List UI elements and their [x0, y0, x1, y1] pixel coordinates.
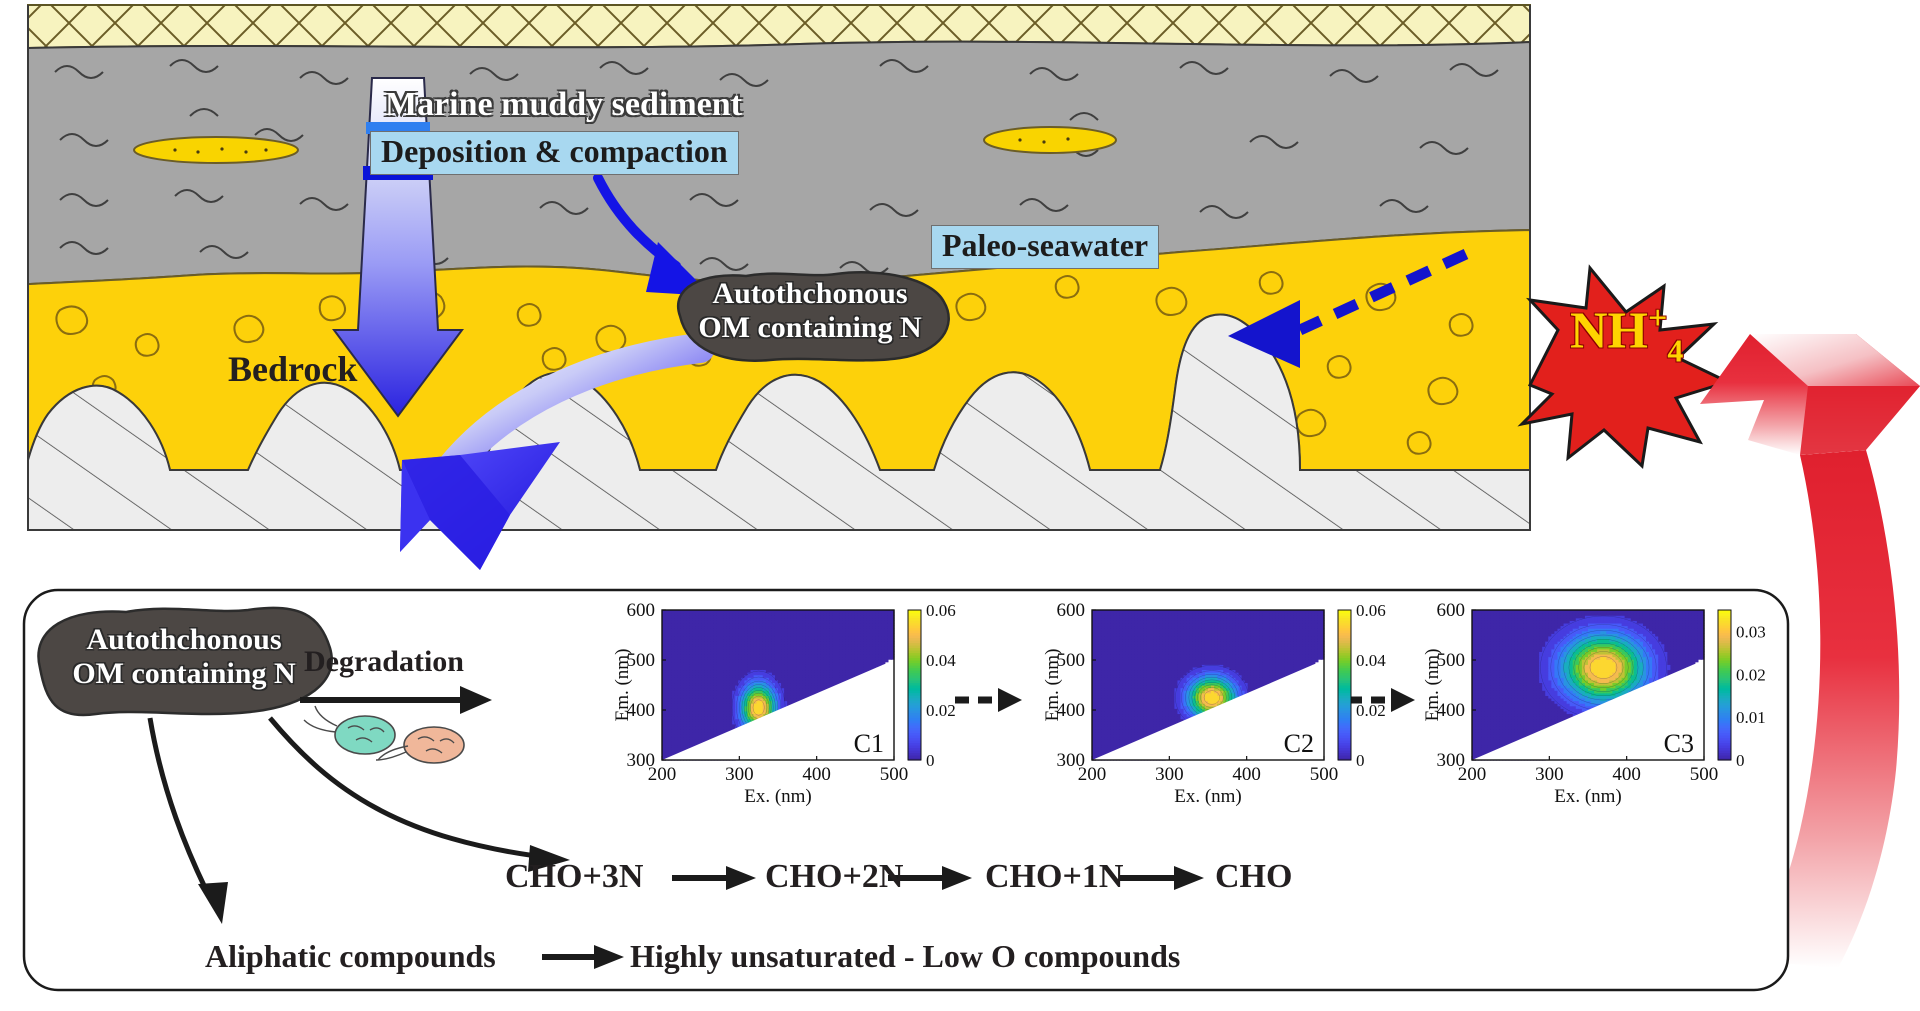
colorbar-tick-label: 0.02 [1356, 701, 1386, 720]
y-tick-label: 600 [1437, 600, 1466, 621]
reaction-step-1: CHO+3N [505, 858, 643, 896]
om-blob-lower-line2: OM containing N [30, 657, 338, 691]
eem-contour-plot-c3: 200300400500300400500600Ex. (nm)Em. (nm)… [1410, 598, 1770, 838]
x-tick-label: 500 [880, 764, 909, 785]
y-tick-label: 600 [627, 600, 656, 621]
x-tick-label: 500 [1310, 764, 1339, 785]
colorbar-tick-label: 0.04 [1356, 651, 1386, 670]
colorbar: 00.010.020.03 [1718, 610, 1766, 770]
colorbar-tick-label: 0.01 [1736, 708, 1766, 727]
aliphatic-compounds-label: Aliphatic compounds [205, 938, 496, 975]
lower-panel-graphics [0, 0, 1920, 1011]
y-axis-label: Em. (nm) [612, 649, 633, 722]
y-tick-label: 600 [1057, 600, 1086, 621]
component-name-label: C1 [854, 729, 884, 758]
om-blob-lower-text: Autothchonous OM containing N [30, 623, 338, 690]
x-axis-label: Ex. (nm) [1554, 786, 1622, 807]
eem-contour-plot-c1: 200300400500300400500600Ex. (nm)Em. (nm)… [600, 598, 960, 838]
reaction-step-3: CHO+1N [985, 858, 1123, 896]
y-axis-label: Em. (nm) [1422, 649, 1443, 722]
colorbar-tick-label: 0.04 [926, 651, 956, 670]
component-name-label: C3 [1664, 729, 1694, 758]
graphical-abstract: Marine muddy sediment Deposition & compa… [0, 0, 1920, 1011]
colorbar-tick-label: 0.03 [1736, 622, 1766, 641]
colorbar-tick-label: 0 [1736, 751, 1745, 770]
reaction-step-2: CHO+2N [765, 858, 903, 896]
x-tick-label: 500 [1690, 764, 1719, 785]
y-tick-label: 300 [1437, 750, 1466, 771]
x-tick-label: 300 [725, 764, 754, 785]
colorbar-tick-label: 0.02 [1736, 665, 1766, 684]
om-blob-lower-line1: Autothchonous [30, 623, 338, 657]
x-tick-label: 300 [1155, 764, 1184, 785]
y-tick-label: 300 [627, 750, 656, 771]
x-tick-label: 300 [1535, 764, 1564, 785]
colorbar-tick-label: 0 [1356, 751, 1365, 770]
x-tick-label: 400 [1612, 764, 1641, 785]
x-tick-label: 400 [1232, 764, 1261, 785]
y-tick-label: 300 [1057, 750, 1086, 771]
reaction-step-4: CHO [1215, 858, 1292, 896]
eem-contour-plot-c2: 200300400500300400500600Ex. (nm)Em. (nm)… [1030, 598, 1390, 838]
colorbar: 00.020.040.06 [1338, 601, 1386, 770]
colorbar-tick-label: 0.06 [926, 601, 956, 620]
low-o-compounds-label: Highly unsaturated - Low O compounds [630, 938, 1180, 975]
colorbar-tick-label: 0 [926, 751, 935, 770]
colorbar-tick-label: 0.02 [926, 701, 956, 720]
colorbar: 00.020.040.06 [908, 601, 956, 770]
x-axis-label: Ex. (nm) [1174, 786, 1242, 807]
y-axis-label: Em. (nm) [1042, 649, 1063, 722]
x-tick-label: 400 [802, 764, 831, 785]
component-name-label: C2 [1284, 729, 1314, 758]
degradation-label: Degradation [304, 645, 464, 679]
x-axis-label: Ex. (nm) [744, 786, 812, 807]
colorbar-tick-label: 0.06 [1356, 601, 1386, 620]
